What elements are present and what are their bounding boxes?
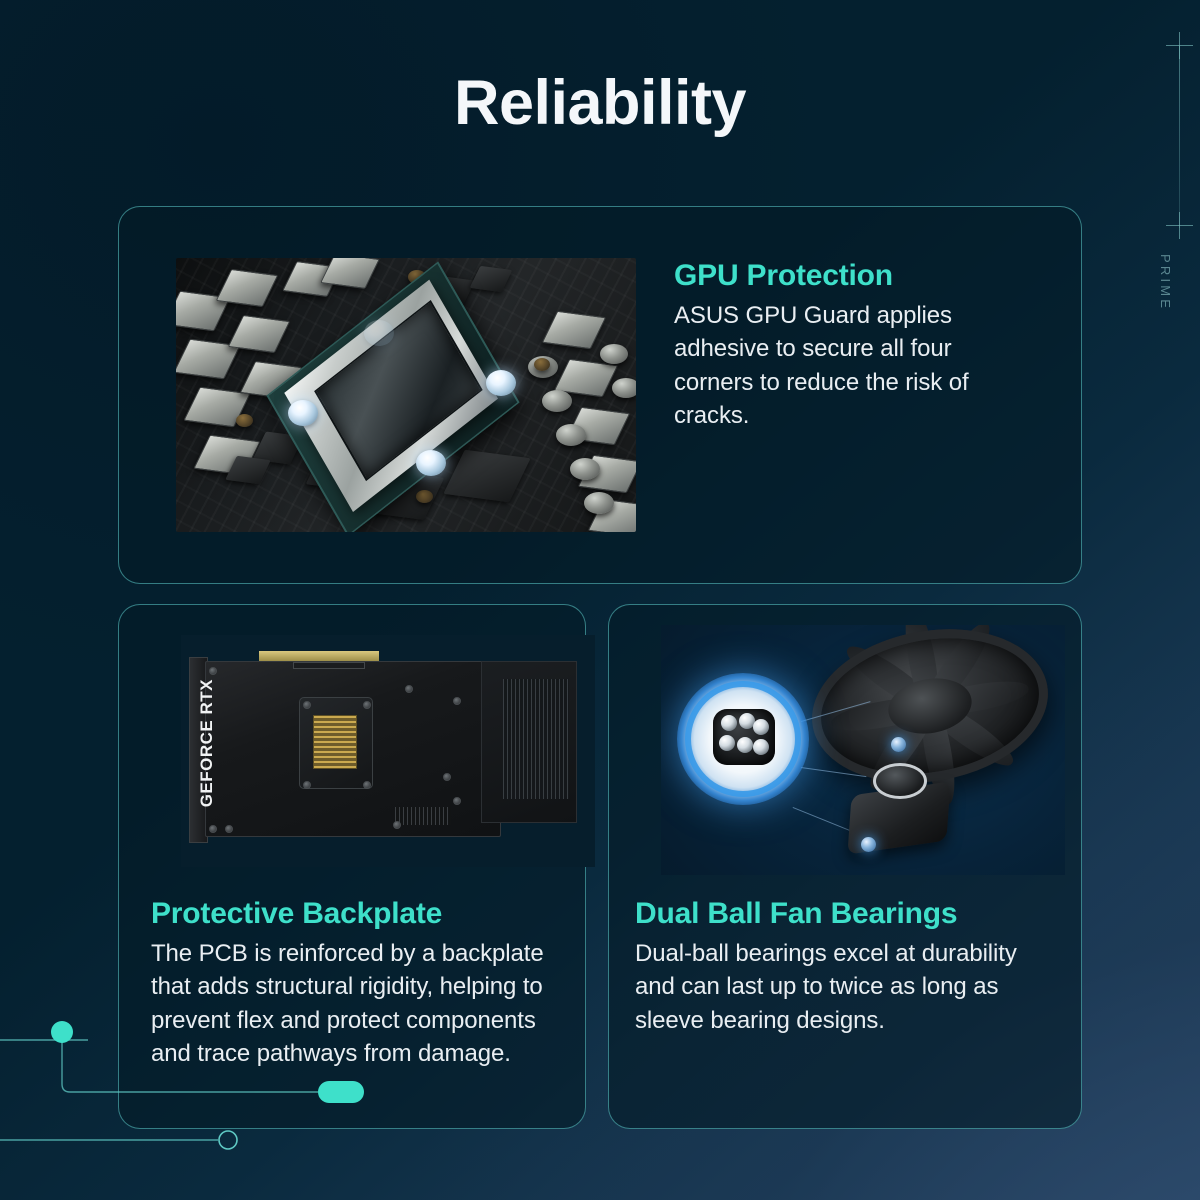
adhesive-dot xyxy=(288,400,318,426)
adhesive-dot xyxy=(416,450,446,476)
feature-title-protective-backplate: Protective Backplate xyxy=(151,897,563,931)
gpu-die-closeup-photo xyxy=(176,258,636,532)
graphics-card-backplate-photo: GEFORCE RTX xyxy=(181,635,595,867)
circuit-trace-decoration xyxy=(0,1020,620,1200)
prime-brand-label: PRIME xyxy=(1158,254,1173,311)
circuit-node-dot xyxy=(51,1021,73,1043)
dual-ball-bearing-fan-photo xyxy=(661,625,1065,875)
feature-card-gpu-protection: GPU Protection ASUS GPU Guard applies ad… xyxy=(118,206,1082,584)
adhesive-dot xyxy=(486,370,516,396)
feature-title-dual-ball-fan-bearings: Dual Ball Fan Bearings xyxy=(635,897,1059,931)
right-rail-decoration: PRIME xyxy=(1140,0,1200,360)
circuit-node-ring xyxy=(219,1131,237,1149)
feature-title-gpu-protection: GPU Protection xyxy=(674,259,1034,293)
feature-card-dual-ball-fan-bearings: Dual Ball Fan Bearings Dual-ball bearing… xyxy=(608,604,1082,1129)
page-title: Reliability xyxy=(0,72,1200,135)
backplate-brand-label: GEFORCE RTX xyxy=(197,679,217,807)
adhesive-dot xyxy=(364,320,394,346)
plus-marker-icon xyxy=(1166,212,1193,239)
feature-body-dual-ball-fan-bearings: Dual-ball bearings excel at durability a… xyxy=(635,937,1059,1038)
rail-divider-line xyxy=(1179,46,1180,228)
feature-body-gpu-protection: ASUS GPU Guard applies adhesive to secur… xyxy=(674,299,1034,433)
circuit-pill xyxy=(318,1081,364,1103)
